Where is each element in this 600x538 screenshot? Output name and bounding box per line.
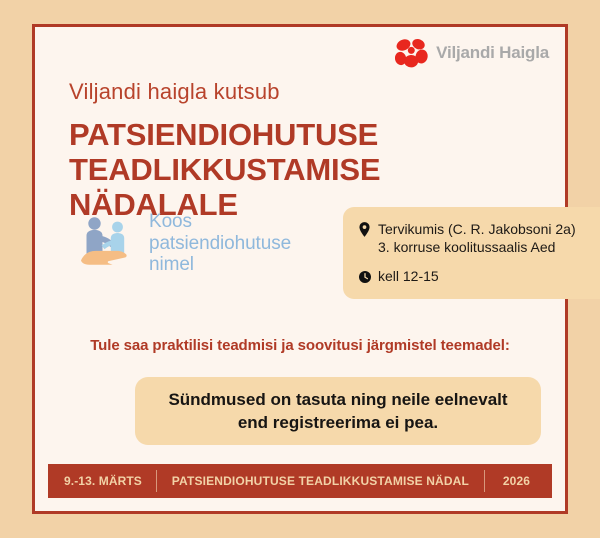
viljandi-haigla-flower-icon <box>395 37 429 69</box>
time-text: kell 12-15 <box>378 267 439 285</box>
time-line: kell 12-15 <box>358 267 597 285</box>
free-entry-note-text: Sündmused on tasuta ning neile eelnevalt… <box>168 388 507 435</box>
campaign-footer-band: 9.-13. MÄRTS PATSIENDIOHUTUSE TEADLIKKUS… <box>46 462 554 500</box>
poster-frame: Viljandi Haigla Viljandi haigla kutsub P… <box>32 24 568 514</box>
venue-line: Tervikumis (C. R. Jakobsoni 2a) 3. korru… <box>358 220 597 256</box>
footer-divider-right <box>484 470 485 492</box>
free-entry-note-card: Sündmused on tasuta ning neile eelnevalt… <box>135 377 541 445</box>
footer-divider-left <box>156 470 157 492</box>
hospital-logo-lockup: Viljandi Haigla <box>395 37 549 69</box>
venue-time-card: Tervikumis (C. R. Jakobsoni 2a) 3. korru… <box>343 207 600 299</box>
campaign-logo-text: Koos patsiendiohutuse nimel <box>149 211 291 276</box>
hospital-wordmark: Viljandi Haigla <box>436 43 549 63</box>
details-row: Koos patsiendiohutuse nimel Tervikumis (… <box>35 199 565 309</box>
clock-icon <box>358 268 371 285</box>
location-pin-icon <box>358 221 371 238</box>
topics-lead-in: Tule saa praktilisi teadmisi ja soovitus… <box>35 337 565 354</box>
poster-canvas: Viljandi Haigla Viljandi haigla kutsub P… <box>0 0 600 538</box>
footer-year: 2026 <box>503 474 552 488</box>
two-people-in-hand-icon <box>79 213 141 273</box>
poster-kicker: Viljandi haigla kutsub <box>69 79 280 105</box>
campaign-logo-lockup: Koos patsiendiohutuse nimel <box>79 211 291 276</box>
footer-campaign-title: PATSIENDIOHUTUSE TEADLIKKUSTAMISE NÄDAL <box>157 474 484 488</box>
footer-date-range: 9.-13. MÄRTS <box>48 474 142 488</box>
venue-text: Tervikumis (C. R. Jakobsoni 2a) 3. korru… <box>378 220 576 256</box>
headline-line-1: PATSIENDIOHUTUSE <box>69 117 378 152</box>
